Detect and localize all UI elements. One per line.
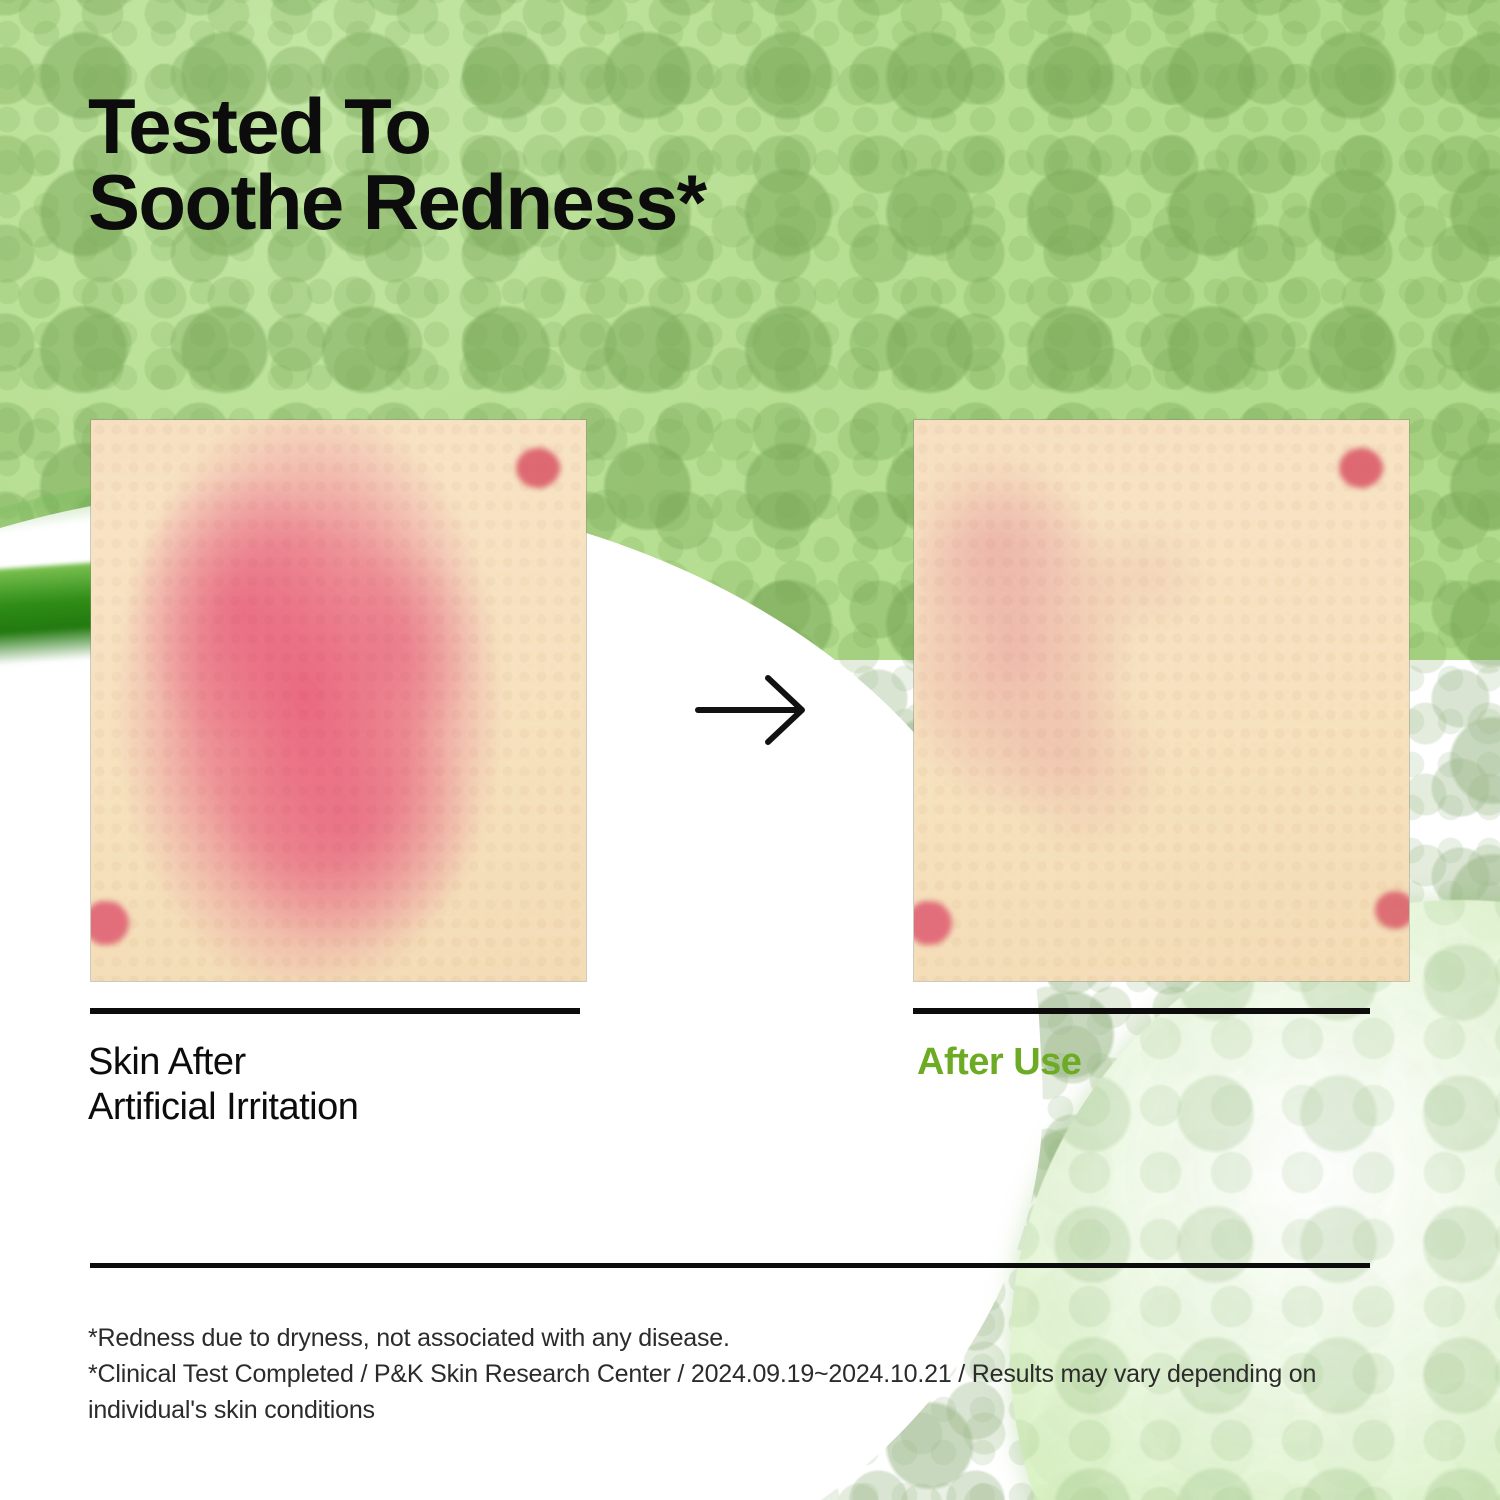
footnote-block: *Redness due to dryness, not associated … (88, 1320, 1398, 1428)
blemish-spot (1375, 891, 1410, 929)
before-caption-rule (90, 1008, 580, 1014)
footnote-line: *Clinical Test Completed / P&K Skin Rese… (88, 1356, 1398, 1428)
skin-grain-texture (91, 420, 586, 981)
footer-divider (90, 1263, 1370, 1268)
skin-grain-texture (914, 420, 1409, 981)
blemish-spot (1339, 448, 1383, 488)
footnote-line: *Redness due to dryness, not associated … (88, 1320, 1398, 1356)
before-photo (90, 419, 587, 982)
page-title: Tested To Soothe Redness* (88, 88, 705, 241)
arrow-right-icon (694, 672, 814, 748)
promo-canvas: Tested To Soothe Redness* Skin After Art… (0, 0, 1500, 1500)
after-caption-rule (913, 1008, 1370, 1014)
after-caption-label: After Use (917, 1040, 1081, 1085)
after-photo (913, 419, 1410, 982)
before-caption-label: Skin After Artificial Irritation (88, 1040, 358, 1130)
blemish-spot (516, 448, 560, 488)
